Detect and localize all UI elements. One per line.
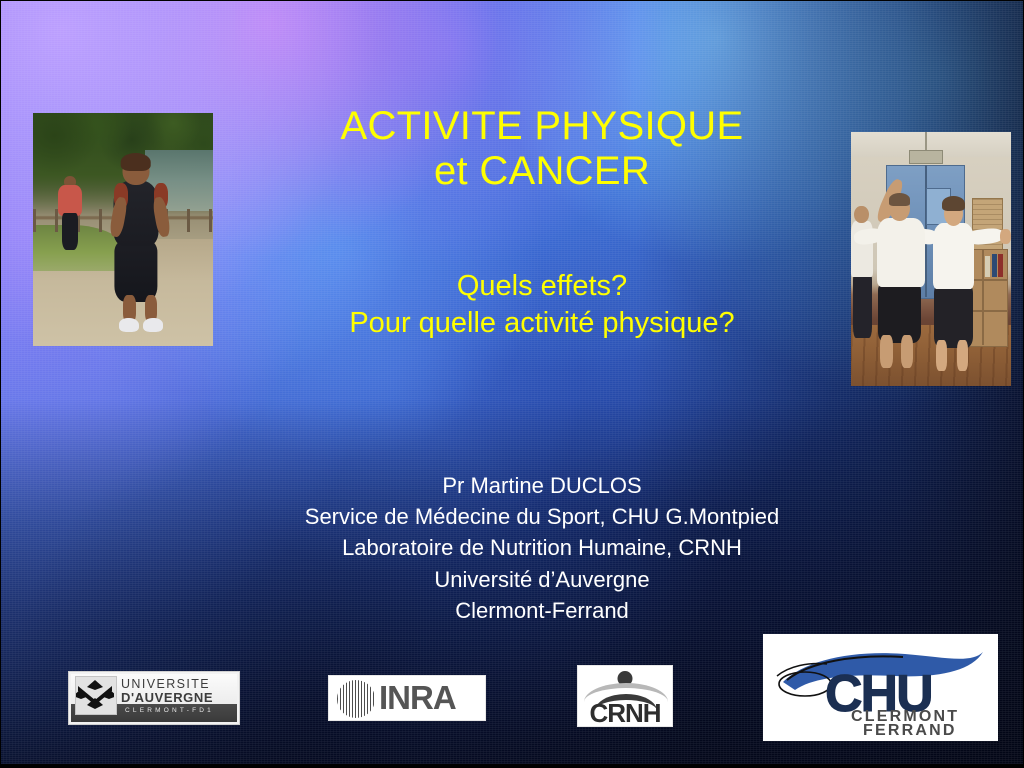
crnh-logo-text: CRNH: [589, 698, 660, 729]
striped-circle-icon: [337, 680, 375, 718]
title-line-2: et CANCER: [232, 149, 852, 194]
subtitle-line-1: Quels effets?: [232, 268, 852, 305]
universite-auvergne-logo: UNIVERSITE D'AUVERGNE CLERMONT-FD1: [68, 671, 240, 725]
title-line-1: ACTIVITE PHYSIQUE: [232, 104, 852, 149]
affiliation-line-4: Université d’Auvergne: [172, 564, 912, 595]
slide-subtitle: Quels effets? Pour quelle activité physi…: [232, 268, 852, 341]
chu-logo-sub-2: FERRAND: [863, 722, 957, 740]
affiliation-line-2: Service de Médecine du Sport, CHU G.Mont…: [172, 501, 912, 532]
crnh-logo: CRNH: [577, 665, 673, 727]
group-exercise-class-photo: [851, 132, 1011, 386]
presentation-slide: ACTIVITE PHYSIQUE et CANCER Quels effets…: [0, 0, 1024, 768]
universite-logo-line-3: CLERMONT-FD1: [125, 707, 214, 714]
universite-logo-line-1: UNIVERSITE: [121, 677, 210, 691]
author-name: Pr Martine DUCLOS: [172, 470, 912, 501]
chevron-emblem-icon: [76, 677, 114, 712]
inra-logo: INRA: [328, 675, 486, 721]
slide-title: ACTIVITE PHYSIQUE et CANCER: [232, 104, 852, 194]
chu-clermont-ferrand-logo: CHU CLERMONT FERRAND: [763, 634, 998, 741]
author-affiliation-block: Pr Martine DUCLOS Service de Médecine du…: [172, 470, 912, 626]
inra-logo-text: INRA: [379, 679, 456, 717]
woman-jogging-park-photo: [33, 113, 213, 346]
affiliation-line-3: Laboratoire de Nutrition Humaine, CRNH: [172, 532, 912, 563]
universite-logo-line-2: D'AUVERGNE: [121, 690, 213, 705]
affiliation-line-5: Clermont-Ferrand: [172, 595, 912, 626]
subtitle-line-2: Pour quelle activité physique?: [232, 305, 852, 342]
